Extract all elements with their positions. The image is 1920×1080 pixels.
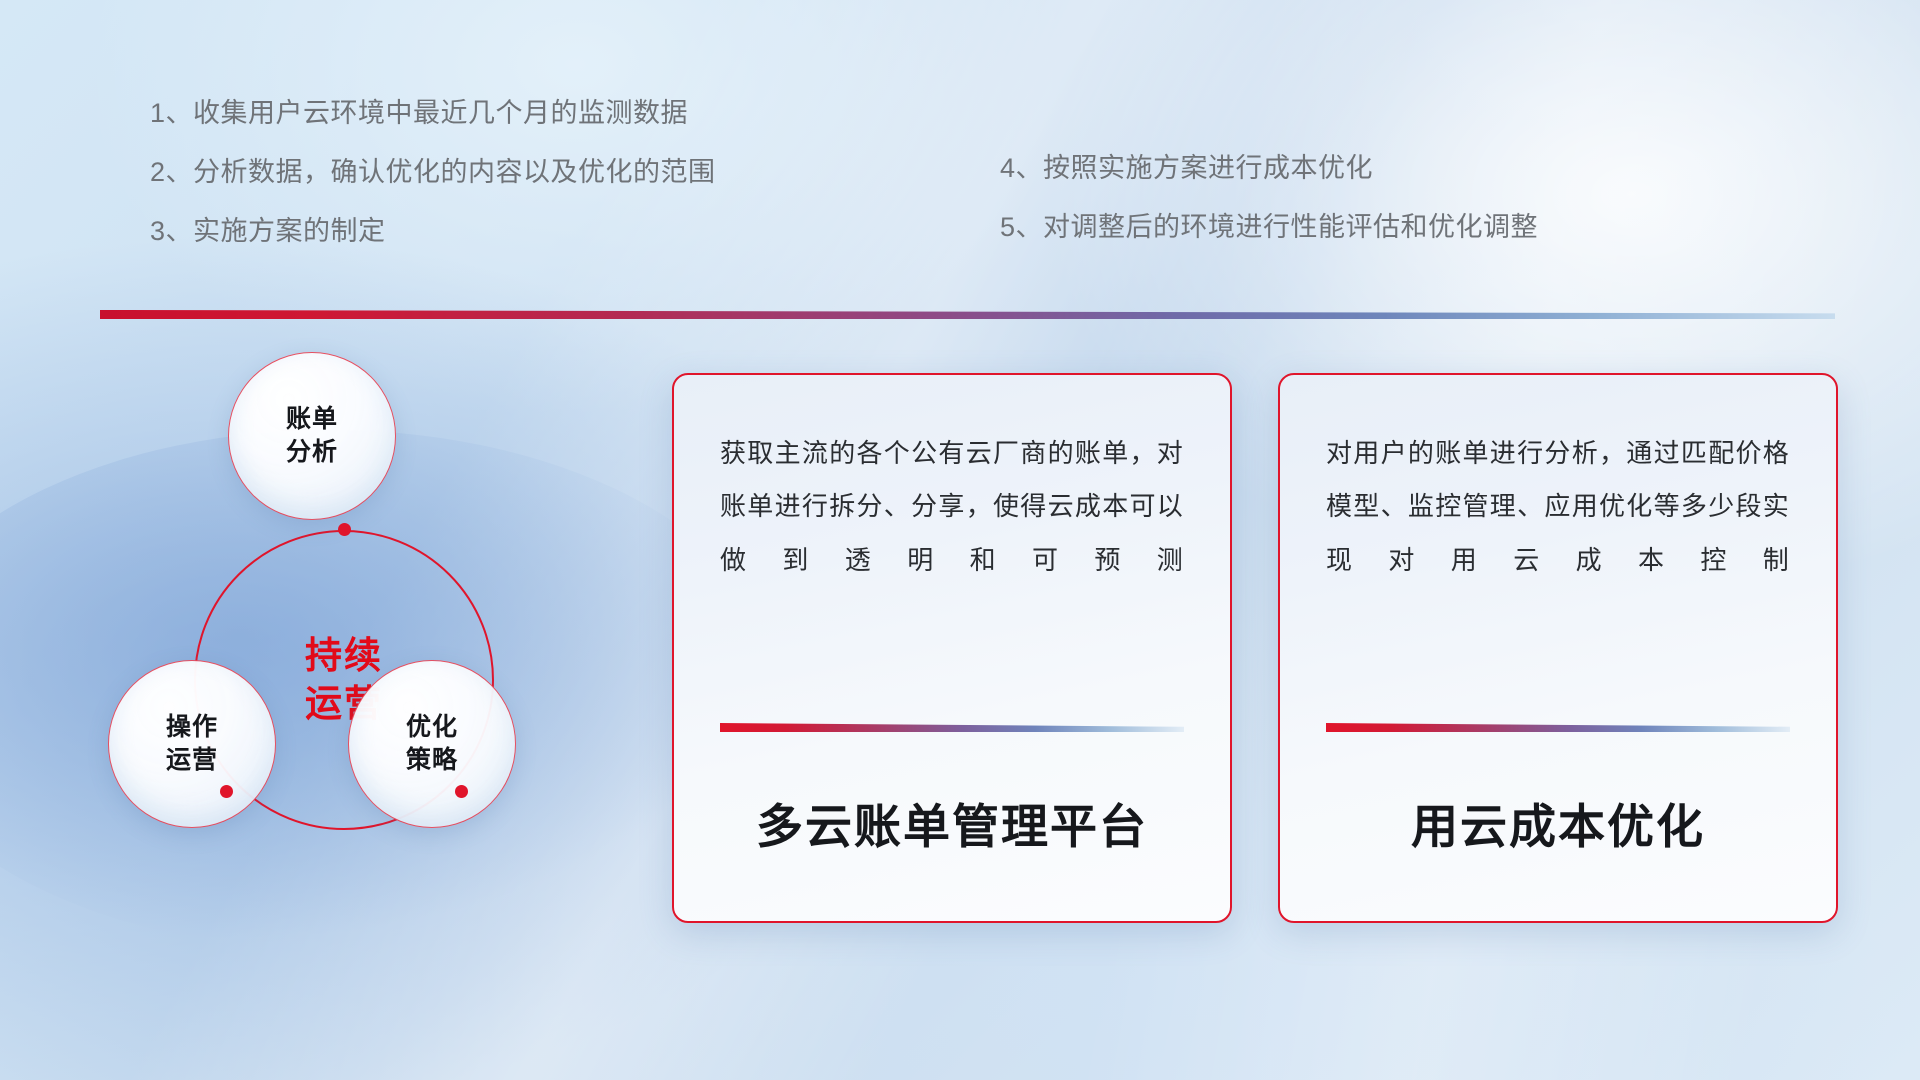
venn-center-line-1: 持续 <box>305 632 383 680</box>
venn-bubble-billing-analysis[interactable]: 账单 分析 <box>228 352 396 520</box>
bullet-item-1: 1、收集用户云环境中最近几个月的监测数据 <box>150 100 716 127</box>
header-divider <box>100 310 1835 319</box>
feature-card-1-title: 多云账单管理平台 <box>720 732 1184 921</box>
feature-card-2-title: 用云成本优化 <box>1326 732 1790 921</box>
venn-bubble-operations[interactable]: 操作 运营 <box>108 660 276 828</box>
bullet-item-4: 4、按照实施方案进行成本优化 <box>1000 155 1538 182</box>
venn-node-dot-right-icon <box>455 785 468 798</box>
feature-card-multicloud-billing[interactable]: 获取主流的各个公有云厂商的账单，对账单进行拆分、分享，使得云成本可以做到透明和可… <box>672 373 1232 923</box>
venn-diagram: 持续 运营 账单 分析 操作 运营 优化 策略 <box>100 360 620 920</box>
venn-bubble-top-line-2: 分析 <box>286 436 338 470</box>
bullet-list-right: 4、按照实施方案进行成本优化 5、对调整后的环境进行性能评估和优化调整 <box>1000 155 1538 241</box>
venn-bubble-right-line-1: 优化 <box>406 711 458 745</box>
venn-node-dot-top-icon <box>338 523 351 536</box>
venn-bubble-left-line-2: 运营 <box>166 744 218 778</box>
feature-card-1-body: 获取主流的各个公有云厂商的账单，对账单进行拆分、分享，使得云成本可以做到透明和可… <box>720 427 1184 587</box>
venn-node-dot-left-icon <box>220 785 233 798</box>
bullet-item-5: 5、对调整后的环境进行性能评估和优化调整 <box>1000 214 1538 241</box>
venn-bubble-optimization-strategy[interactable]: 优化 策略 <box>348 660 516 828</box>
header-divider-bar <box>100 310 1835 319</box>
bullet-item-2: 2、分析数据，确认优化的内容以及优化的范围 <box>150 159 716 186</box>
venn-bubble-right-line-2: 策略 <box>406 744 458 778</box>
venn-bubble-left-line-1: 操作 <box>166 711 218 745</box>
feature-card-2-divider <box>1326 723 1790 732</box>
slide-canvas: 1、收集用户云环境中最近几个月的监测数据 2、分析数据，确认优化的内容以及优化的… <box>0 0 1920 1080</box>
feature-card-1-divider <box>720 723 1184 732</box>
bullet-list-left: 1、收集用户云环境中最近几个月的监测数据 2、分析数据，确认优化的内容以及优化的… <box>150 100 716 245</box>
feature-card-cloud-cost-optimization[interactable]: 对用户的账单进行分析，通过匹配价格模型、监控管理、应用优化等多少段实现对用云成本… <box>1278 373 1838 923</box>
bullet-item-3: 3、实施方案的制定 <box>150 218 716 245</box>
venn-bubble-top-line-1: 账单 <box>286 403 338 437</box>
feature-card-2-body: 对用户的账单进行分析，通过匹配价格模型、监控管理、应用优化等多少段实现对用云成本… <box>1326 427 1790 587</box>
